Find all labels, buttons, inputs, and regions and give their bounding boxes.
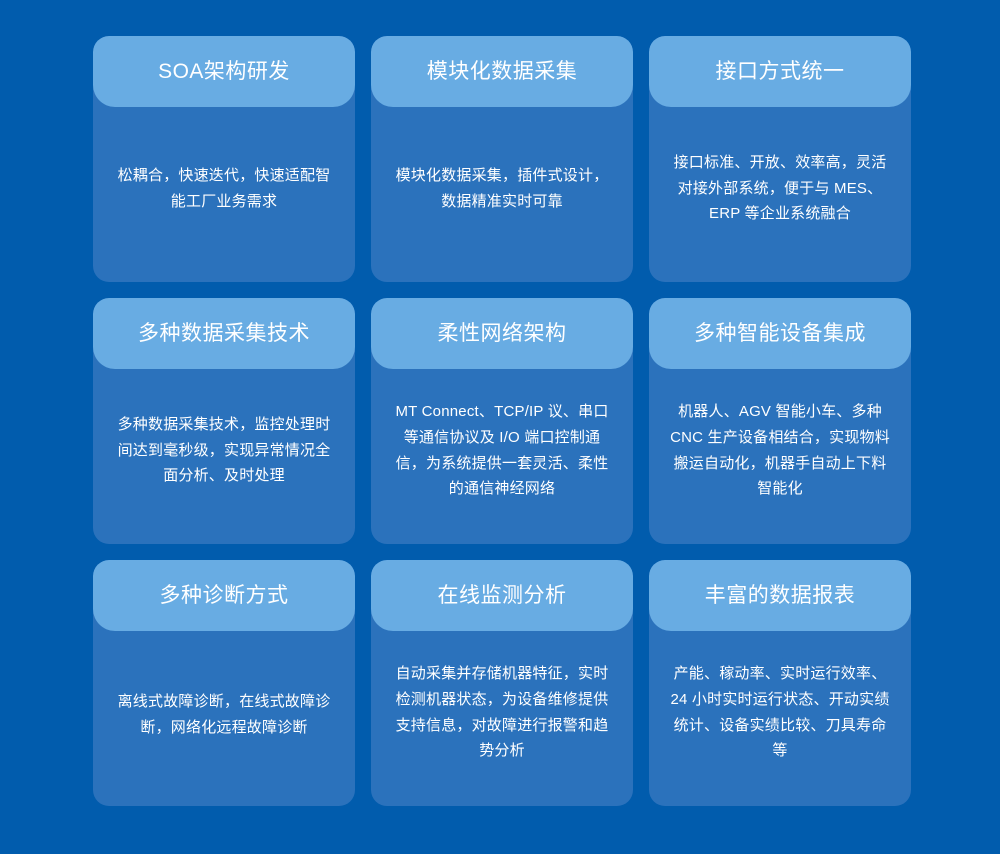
feature-card-device-integration[interactable]: 多种智能设备集成 机器人、AGV 智能小车、多种 CNC 生产设备相结合，实现物… [649, 298, 911, 544]
feature-card-body: 模块化数据采集，插件式设计，数据精准实时可靠 [371, 107, 633, 282]
feature-card-header: 在线监测分析 [371, 560, 633, 631]
feature-card-body: 机器人、AGV 智能小车、多种 CNC 生产设备相结合，实现物料搬运自动化，机器… [649, 369, 911, 544]
feature-card-multi-collection-tech[interactable]: 多种数据采集技术 多种数据采集技术，监控处理时间达到毫秒级，实现异常情况全面分析… [93, 298, 355, 544]
feature-card-header: 模块化数据采集 [371, 36, 633, 107]
feature-card-header: 丰富的数据报表 [649, 560, 911, 631]
feature-card-grid: SOA架构研发 松耦合，快速迭代，快速适配智能工厂业务需求 模块化数据采集 模块… [0, 0, 1000, 854]
feature-card-description: 产能、稼动率、实时运行效率、24 小时实时运行状态、开动实绩统计、设备实绩比较、… [669, 661, 891, 764]
feature-card-body: 多种数据采集技术，监控处理时间达到毫秒级，实现异常情况全面分析、及时处理 [93, 369, 355, 544]
feature-card-body: 松耦合，快速迭代，快速适配智能工厂业务需求 [93, 107, 355, 282]
feature-card-description: 离线式故障诊断，在线式故障诊断，网络化远程故障诊断 [113, 689, 335, 741]
feature-card-description: 机器人、AGV 智能小车、多种 CNC 生产设备相结合，实现物料搬运自动化，机器… [669, 399, 891, 502]
feature-card-header: 多种数据采集技术 [93, 298, 355, 369]
feature-card-title: 多种数据采集技术 [138, 321, 310, 346]
feature-card-soa[interactable]: SOA架构研发 松耦合，快速迭代，快速适配智能工厂业务需求 [93, 36, 355, 282]
feature-card-description: 接口标准、开放、效率高，灵活对接外部系统，便于与 MES、ERP 等企业系统融合 [669, 150, 891, 227]
feature-card-description: MT Connect、TCP/IP 议、串口等通信协议及 I/O 端口控制通信，… [391, 399, 613, 502]
feature-card-modular-data-collection[interactable]: 模块化数据采集 模块化数据采集，插件式设计，数据精准实时可靠 [371, 36, 633, 282]
feature-card-description: 松耦合，快速迭代，快速适配智能工厂业务需求 [113, 163, 335, 215]
feature-card-rich-reports[interactable]: 丰富的数据报表 产能、稼动率、实时运行效率、24 小时实时运行状态、开动实绩统计… [649, 560, 911, 806]
feature-card-description: 多种数据采集技术，监控处理时间达到毫秒级，实现异常情况全面分析、及时处理 [113, 412, 335, 489]
feature-card-title: 丰富的数据报表 [705, 583, 856, 608]
feature-card-header: SOA架构研发 [93, 36, 355, 107]
feature-card-title: 柔性网络架构 [438, 321, 567, 346]
feature-card-header: 柔性网络架构 [371, 298, 633, 369]
feature-card-title: 多种诊断方式 [160, 583, 289, 608]
feature-card-header: 接口方式统一 [649, 36, 911, 107]
feature-card-title: 在线监测分析 [438, 583, 567, 608]
feature-card-online-monitoring[interactable]: 在线监测分析 自动采集并存储机器特征，实时检测机器状态，为设备维修提供支持信息，… [371, 560, 633, 806]
feature-card-flexible-network[interactable]: 柔性网络架构 MT Connect、TCP/IP 议、串口等通信协议及 I/O … [371, 298, 633, 544]
feature-card-title: 模块化数据采集 [427, 59, 578, 84]
feature-card-title: 多种智能设备集成 [694, 321, 866, 346]
feature-card-description: 自动采集并存储机器特征，实时检测机器状态，为设备维修提供支持信息，对故障进行报警… [391, 661, 613, 764]
feature-card-body: 产能、稼动率、实时运行效率、24 小时实时运行状态、开动实绩统计、设备实绩比较、… [649, 631, 911, 806]
feature-card-body: 接口标准、开放、效率高，灵活对接外部系统，便于与 MES、ERP 等企业系统融合 [649, 107, 911, 282]
feature-card-title: 接口方式统一 [716, 59, 845, 84]
feature-card-title: SOA架构研发 [158, 59, 290, 84]
feature-card-diagnostics[interactable]: 多种诊断方式 离线式故障诊断，在线式故障诊断，网络化远程故障诊断 [93, 560, 355, 806]
feature-card-header: 多种诊断方式 [93, 560, 355, 631]
feature-card-body: 离线式故障诊断，在线式故障诊断，网络化远程故障诊断 [93, 631, 355, 806]
feature-card-header: 多种智能设备集成 [649, 298, 911, 369]
feature-card-description: 模块化数据采集，插件式设计，数据精准实时可靠 [391, 163, 613, 215]
feature-card-body: MT Connect、TCP/IP 议、串口等通信协议及 I/O 端口控制通信，… [371, 369, 633, 544]
feature-card-unified-interface[interactable]: 接口方式统一 接口标准、开放、效率高，灵活对接外部系统，便于与 MES、ERP … [649, 36, 911, 282]
feature-card-body: 自动采集并存储机器特征，实时检测机器状态，为设备维修提供支持信息，对故障进行报警… [371, 631, 633, 806]
